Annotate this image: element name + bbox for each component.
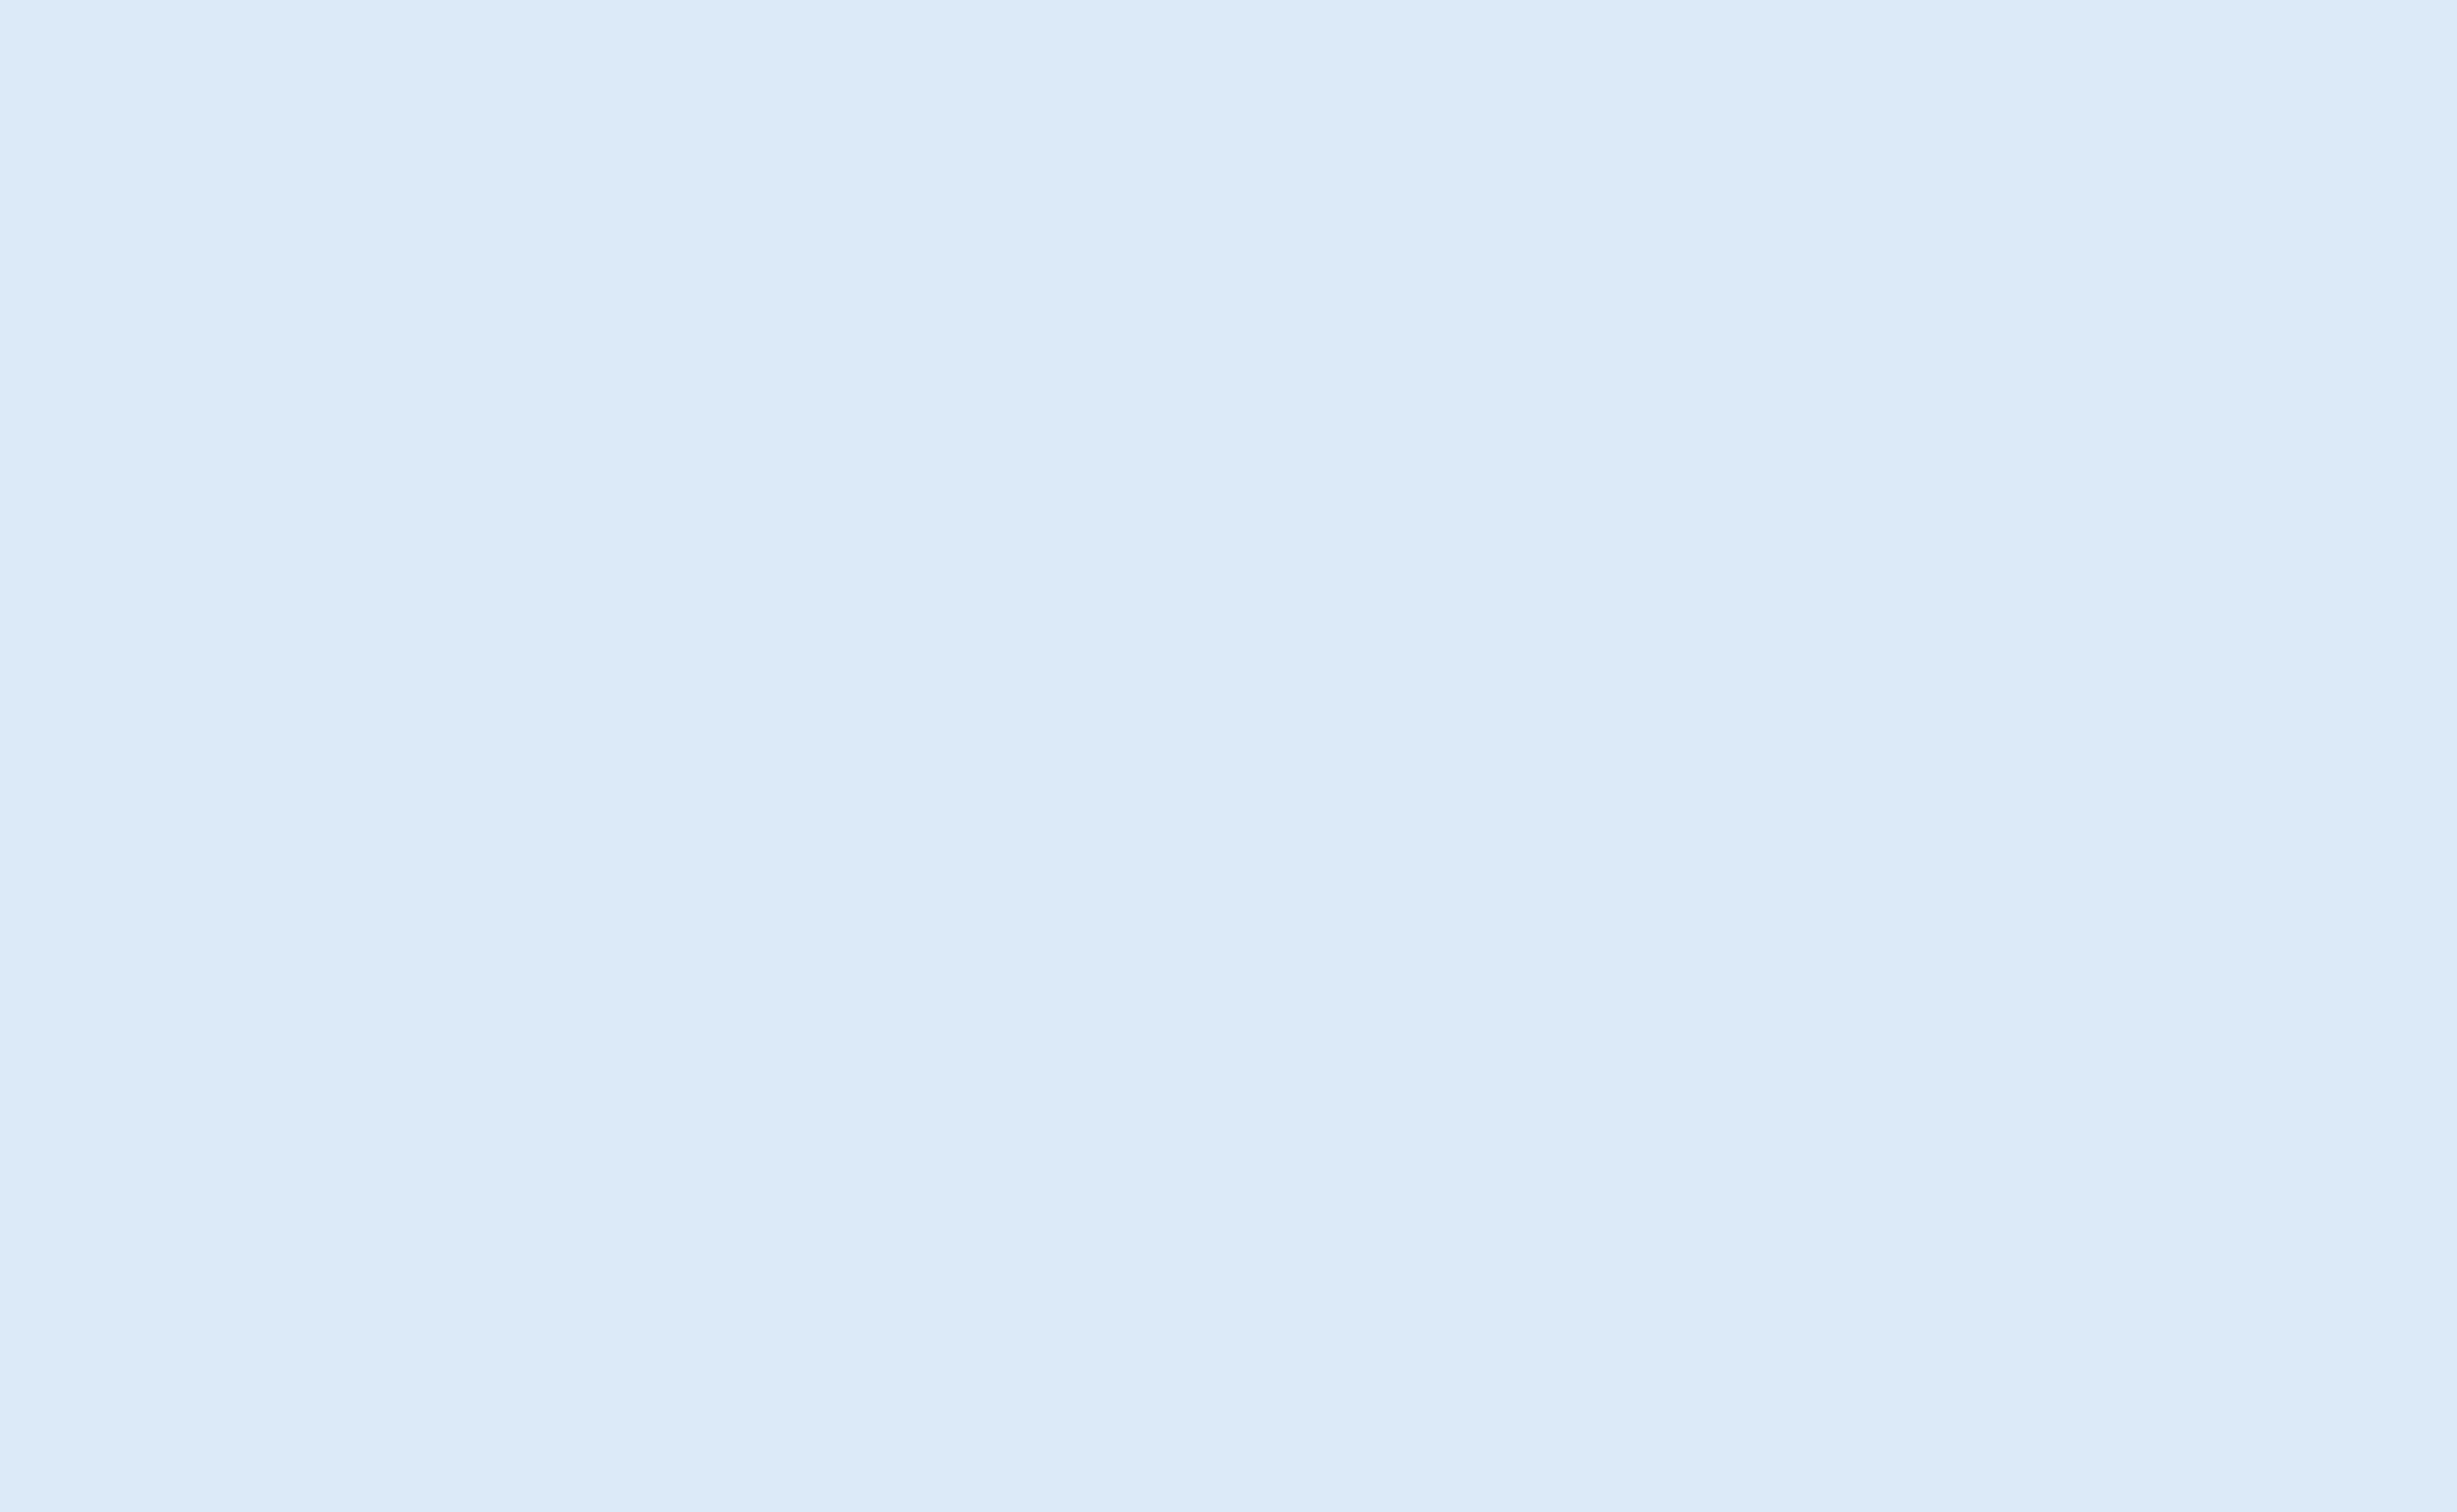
brand-logo[interactable]: JoyDigit 悦享数字 [139,67,695,123]
cloud-shape [689,655,1376,889]
logo-chinese-name: 悦享数字 [461,67,695,123]
diagonal-accent-band [0,1344,2457,1512]
scenario-line: 餐饮服务、社区活动、长者商城、 [131,1045,1395,1180]
scenario-list: 上门服务、到店服务、在线咨询、 餐饮服务、社区活动、长者商城、 远程监护、健康管… [131,911,1395,1314]
scenario-line: 远程监护、健康管理、安防监控 [131,1180,1395,1314]
page-title: 社区/居家养老运营平台 [123,257,1823,426]
band-right-shape [897,1365,2454,1469]
blue-skyscraper-photo [1424,19,2454,1345]
band-left-shape [0,1365,874,1469]
house-outline-icon [181,87,298,130]
slide-canvas: JoyDigit 悦享数字 社区/居家养老运营平台 核心业务场景： 上门服务、到… [0,0,2457,1512]
scenario-line: 上门服务、到店服务、在线咨询、 [131,911,1395,1045]
section-heading: 核心业务场景： [148,768,683,854]
band-clip [0,1365,2454,1469]
photo-edge-fade [1424,19,2454,1345]
